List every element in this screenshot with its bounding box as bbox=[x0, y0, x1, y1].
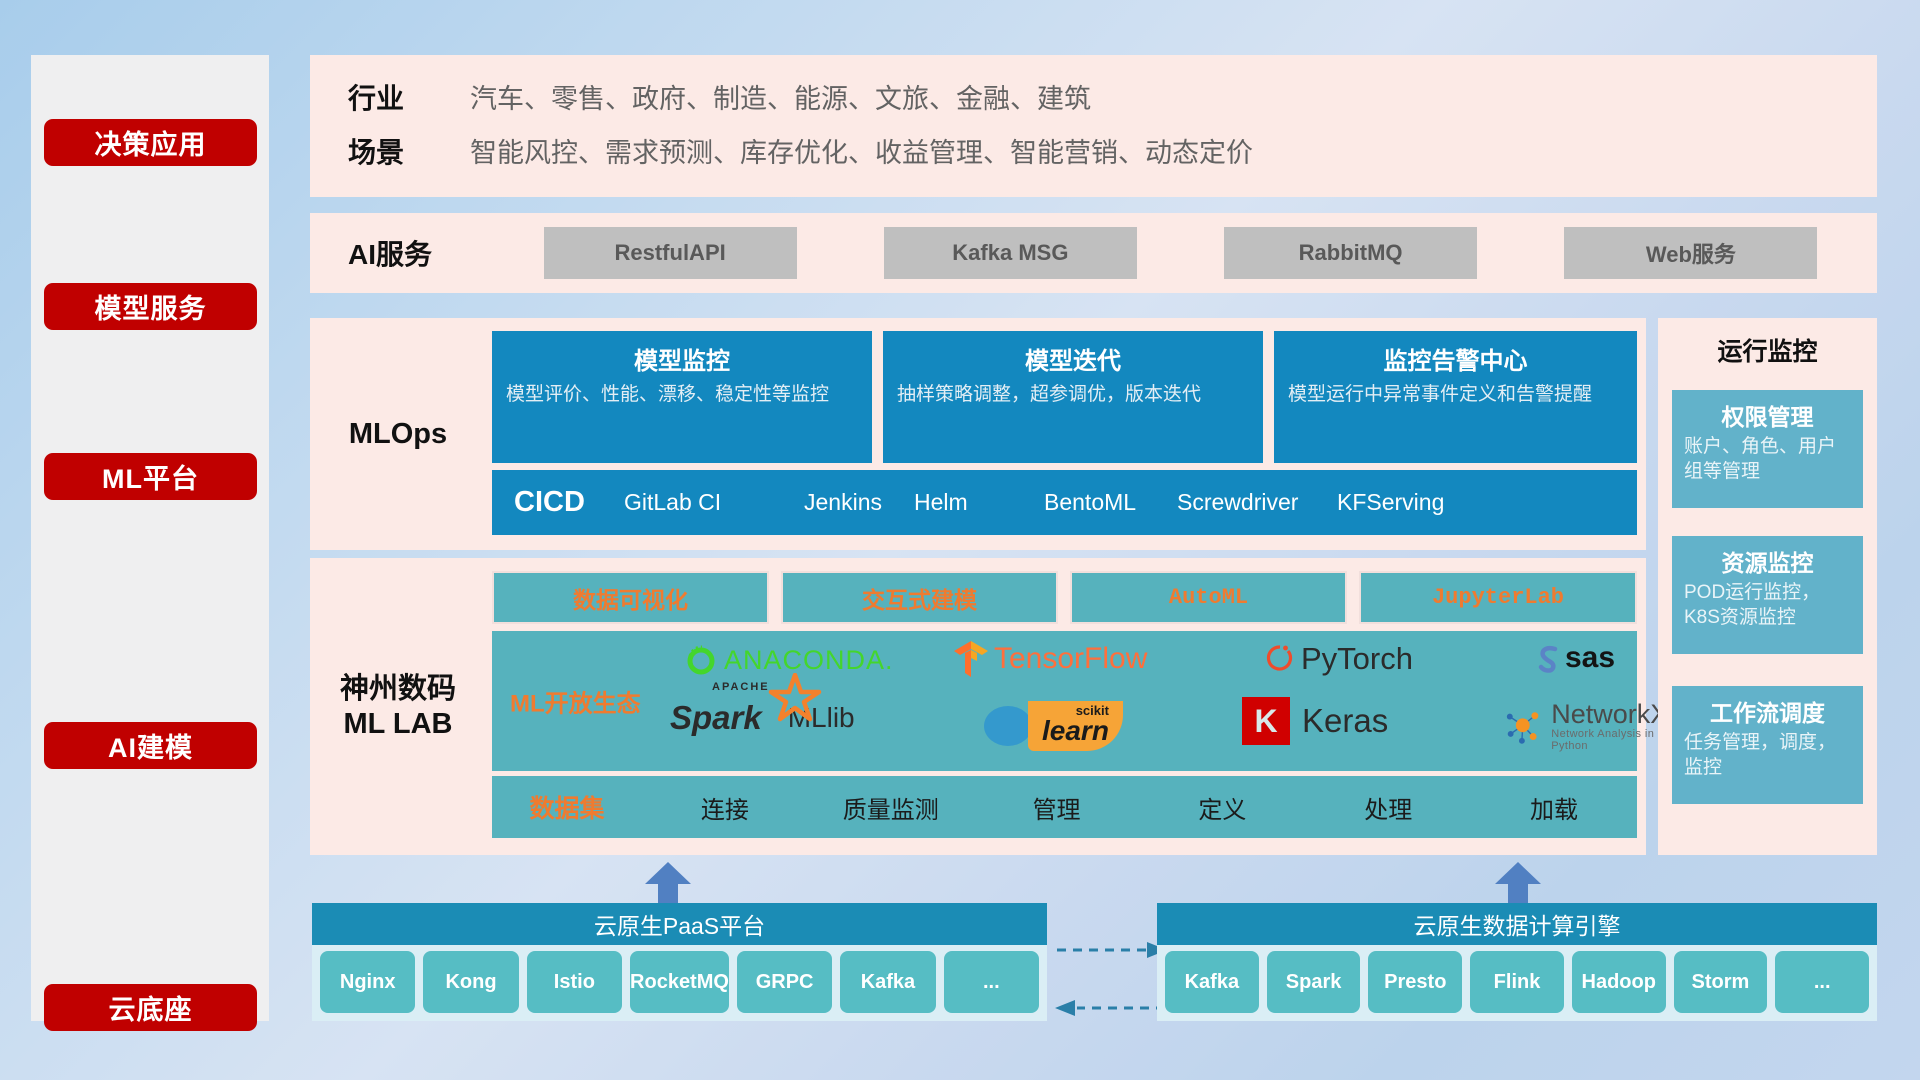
card-title: 工作流调度 bbox=[1684, 694, 1851, 728]
dataset-item-define[interactable]: 定义 bbox=[1139, 790, 1305, 825]
anaconda-wordmark: ANACONDA. bbox=[724, 645, 894, 676]
rail-item-ml-platform[interactable]: ML平台 bbox=[44, 453, 257, 500]
cicd-item-kfserving[interactable]: KFServing bbox=[1337, 489, 1487, 516]
ai-service-chip-row: RestfulAPI Kafka MSG RabbitMQ Web服务 bbox=[500, 213, 1861, 293]
bidirectional-link-arrows bbox=[1055, 938, 1167, 1024]
keras-logo: K Keras bbox=[1242, 697, 1388, 745]
networkx-subtitle: Network Analysis in Python bbox=[1551, 728, 1675, 752]
pytorch-mark-icon bbox=[1264, 642, 1296, 676]
cicd-item-jenkins[interactable]: Jenkins bbox=[804, 489, 914, 516]
card-title: 监控告警中心 bbox=[1288, 341, 1623, 376]
compute-chip-more[interactable]: ... bbox=[1775, 951, 1869, 1013]
arrow-up-compute-icon bbox=[1495, 862, 1541, 906]
paas-chip-more[interactable]: ... bbox=[944, 951, 1039, 1013]
ai-service-label: AI服务 bbox=[348, 233, 432, 273]
mlops-label: MLOps bbox=[310, 318, 486, 550]
cicd-item-screwdriver[interactable]: Screwdriver bbox=[1177, 489, 1337, 516]
rail-item-ai-modeling[interactable]: AI建模 bbox=[44, 722, 257, 769]
ml-lab-label-line1: 神州数码 bbox=[340, 672, 456, 706]
cicd-item-gitlab-ci[interactable]: GitLab CI bbox=[624, 489, 804, 516]
compute-chip-flink[interactable]: Flink bbox=[1470, 951, 1564, 1013]
compute-engine-chip-row: Kafka Spark Presto Flink Hadoop Storm ..… bbox=[1165, 951, 1869, 1013]
ml-lab-tab-automl[interactable]: AutoML bbox=[1070, 571, 1347, 624]
rail-item-decision-app[interactable]: 决策应用 bbox=[44, 119, 257, 166]
sas-logo: sas bbox=[1532, 641, 1615, 675]
industry-label: 行业 bbox=[348, 72, 470, 126]
monitor-card-permission[interactable]: 权限管理 账户、角色、用户组等管理 bbox=[1672, 390, 1863, 508]
paas-chip-kafka[interactable]: Kafka bbox=[840, 951, 935, 1013]
mlops-cicd-bar: CICD GitLab CI Jenkins Helm BentoML Scre… bbox=[492, 470, 1637, 535]
open-ecosystem-label: ML开放生态 bbox=[510, 684, 641, 719]
ai-service-chip-web-service[interactable]: Web服务 bbox=[1564, 227, 1817, 279]
scikit-learn-logo: scikit learn bbox=[982, 701, 1123, 751]
spark-apache-sub: APACHE bbox=[712, 681, 770, 693]
compute-chip-kafka[interactable]: Kafka bbox=[1165, 951, 1259, 1013]
scenario-value: 智能风控、需求预测、库存优化、收益管理、智能营销、动态定价 bbox=[470, 126, 1877, 180]
card-desc: 任务管理，调度，监控 bbox=[1684, 731, 1851, 780]
learn-wordmark: learn bbox=[1042, 718, 1109, 745]
sas-wordmark: sas bbox=[1565, 641, 1615, 675]
paas-chip-kong[interactable]: Kong bbox=[423, 951, 518, 1013]
compute-chip-hadoop[interactable]: Hadoop bbox=[1572, 951, 1666, 1013]
tensorflow-wordmark: TensorFlow bbox=[994, 642, 1147, 676]
monitor-card-resource[interactable]: 资源监控 POD运行监控，K8S资源监控 bbox=[1672, 536, 1863, 654]
mlops-card-alert-center[interactable]: 监控告警中心 模型运行中异常事件定义和告警提醒 bbox=[1274, 331, 1637, 463]
ml-lab-label-line2: ML LAB bbox=[340, 707, 456, 741]
rail-item-model-service[interactable]: 模型服务 bbox=[44, 283, 257, 330]
dataset-item-load[interactable]: 加载 bbox=[1471, 790, 1637, 825]
card-desc: 模型运行中异常事件定义和告警提醒 bbox=[1288, 382, 1623, 407]
layer-rail: 决策应用 模型服务 ML平台 AI建模 云底座 bbox=[31, 55, 269, 1021]
ml-lab-open-ecosystem: ML开放生态 ANACONDA. bbox=[492, 631, 1637, 771]
compute-chip-presto[interactable]: Presto bbox=[1368, 951, 1462, 1013]
panel-ml-lab: 神州数码 ML LAB 数据可视化 交互式建模 AutoML JupyterLa… bbox=[310, 558, 1646, 855]
networkx-logo: NetworkX Network Analysis in Python bbox=[1502, 701, 1675, 752]
compute-chip-storm[interactable]: Storm bbox=[1674, 951, 1768, 1013]
card-desc: POD运行监控，K8S资源监控 bbox=[1684, 581, 1851, 630]
monitor-card-workflow[interactable]: 工作流调度 任务管理，调度，监控 bbox=[1672, 686, 1863, 804]
sas-mark-icon bbox=[1532, 642, 1564, 674]
tensorflow-mark-icon bbox=[952, 639, 990, 679]
card-desc: 抽样策略调整，超参调优，版本迭代 bbox=[897, 382, 1249, 407]
panel-decision-application: 行业 场景 汽车、零售、政府、制造、能源、文旅、金融、建筑 智能风控、需求预测、… bbox=[310, 55, 1877, 197]
ml-lab-tab-jupyterlab[interactable]: JupyterLab bbox=[1359, 571, 1637, 624]
paas-chip-istio[interactable]: Istio bbox=[527, 951, 622, 1013]
cicd-label: CICD bbox=[492, 486, 624, 519]
cicd-item-bentoml[interactable]: BentoML bbox=[1044, 489, 1177, 516]
ai-service-chip-restfulapi[interactable]: RestfulAPI bbox=[544, 227, 797, 279]
industry-value: 汽车、零售、政府、制造、能源、文旅、金融、建筑 bbox=[470, 72, 1877, 126]
keras-wordmark: Keras bbox=[1302, 702, 1388, 740]
mlops-card-model-monitoring[interactable]: 模型监控 模型评价、性能、漂移、稳定性等监控 bbox=[492, 331, 872, 463]
mlops-card-model-iteration[interactable]: 模型迭代 抽样策略调整，超参调优，版本迭代 bbox=[883, 331, 1263, 463]
scenario-label: 场景 bbox=[348, 126, 470, 180]
cicd-item-helm[interactable]: Helm bbox=[914, 489, 1044, 516]
compute-chip-spark[interactable]: Spark bbox=[1267, 951, 1361, 1013]
anaconda-mark-icon bbox=[684, 643, 718, 677]
ai-service-chip-kafka-msg[interactable]: Kafka MSG bbox=[884, 227, 1137, 279]
card-title: 权限管理 bbox=[1684, 398, 1851, 432]
tensorflow-logo: TensorFlow bbox=[952, 639, 1147, 679]
ml-lab-tab-interactive-modeling[interactable]: 交互式建模 bbox=[781, 571, 1058, 624]
keras-mark-icon: K bbox=[1242, 697, 1290, 745]
dataset-label: 数据集 bbox=[492, 789, 642, 825]
dataset-item-connect[interactable]: 连接 bbox=[642, 790, 808, 825]
paas-chip-rocketmq[interactable]: RocketMQ bbox=[630, 951, 729, 1013]
dataset-item-process[interactable]: 处理 bbox=[1305, 790, 1471, 825]
paas-title: 云原生PaaS平台 bbox=[312, 903, 1047, 945]
card-title: 模型监控 bbox=[506, 341, 858, 376]
networkx-graph-icon bbox=[1502, 705, 1545, 749]
arrow-up-paas-icon bbox=[645, 862, 691, 906]
runtime-monitoring-title: 运行监控 bbox=[1658, 318, 1877, 368]
logo-grid: ANACONDA. TensorFlow bbox=[652, 631, 1631, 771]
card-desc: 账户、角色、用户组等管理 bbox=[1684, 435, 1851, 484]
ml-lab-dataset-bar: 数据集 连接 质量监测 管理 定义 处理 加载 bbox=[492, 776, 1637, 838]
paas-chip-row: Nginx Kong Istio RocketMQ GRPC Kafka ... bbox=[320, 951, 1039, 1013]
panel-model-service: AI服务 RestfulAPI Kafka MSG RabbitMQ Web服务 bbox=[310, 213, 1877, 293]
card-desc: 模型评价、性能、漂移、稳定性等监控 bbox=[506, 382, 858, 407]
pytorch-logo: PyTorch bbox=[1264, 641, 1413, 677]
dataset-item-quality[interactable]: 质量监测 bbox=[808, 790, 974, 825]
panel-mlops: MLOps 模型监控 模型评价、性能、漂移、稳定性等监控 模型迭代 抽样策略调整… bbox=[310, 318, 1646, 550]
cloud-group-compute-engine: 云原生数据计算引擎 Kafka Spark Presto Flink Hadoo… bbox=[1157, 903, 1877, 1021]
top-value-column: 汽车、零售、政府、制造、能源、文旅、金融、建筑 智能风控、需求预测、库存优化、收… bbox=[470, 72, 1877, 180]
diagram-canvas: 决策应用 模型服务 ML平台 AI建模 云底座 行业 场景 汽车、零售、政府、制… bbox=[0, 0, 1920, 1080]
networkx-wordmark: NetworkX bbox=[1551, 701, 1675, 728]
paas-chip-grpc[interactable]: GRPC bbox=[737, 951, 832, 1013]
rail-item-cloud-base[interactable]: 云底座 bbox=[44, 984, 257, 1031]
anaconda-logo: ANACONDA. bbox=[684, 643, 894, 677]
panel-runtime-monitoring: 运行监控 权限管理 账户、角色、用户组等管理 资源监控 POD运行监控，K8S资… bbox=[1658, 318, 1877, 855]
paas-chip-nginx[interactable]: Nginx bbox=[320, 951, 415, 1013]
pytorch-wordmark: PyTorch bbox=[1301, 641, 1413, 677]
ai-service-chip-rabbitmq[interactable]: RabbitMQ bbox=[1224, 227, 1477, 279]
spark-mllib-logo: APACHE Spark MLlib bbox=[670, 699, 855, 737]
card-title: 模型迭代 bbox=[897, 341, 1249, 376]
card-title: 资源监控 bbox=[1684, 544, 1851, 578]
compute-engine-title: 云原生数据计算引擎 bbox=[1157, 903, 1877, 945]
spark-star-icon bbox=[768, 673, 822, 723]
dataset-item-manage[interactable]: 管理 bbox=[974, 790, 1140, 825]
cloud-group-paas: 云原生PaaS平台 Nginx Kong Istio RocketMQ GRPC… bbox=[312, 903, 1047, 1021]
ml-lab-label: 神州数码 ML LAB bbox=[310, 558, 486, 855]
ml-lab-tab-data-visualization[interactable]: 数据可视化 bbox=[492, 571, 769, 624]
top-label-column: 行业 场景 bbox=[310, 72, 470, 180]
